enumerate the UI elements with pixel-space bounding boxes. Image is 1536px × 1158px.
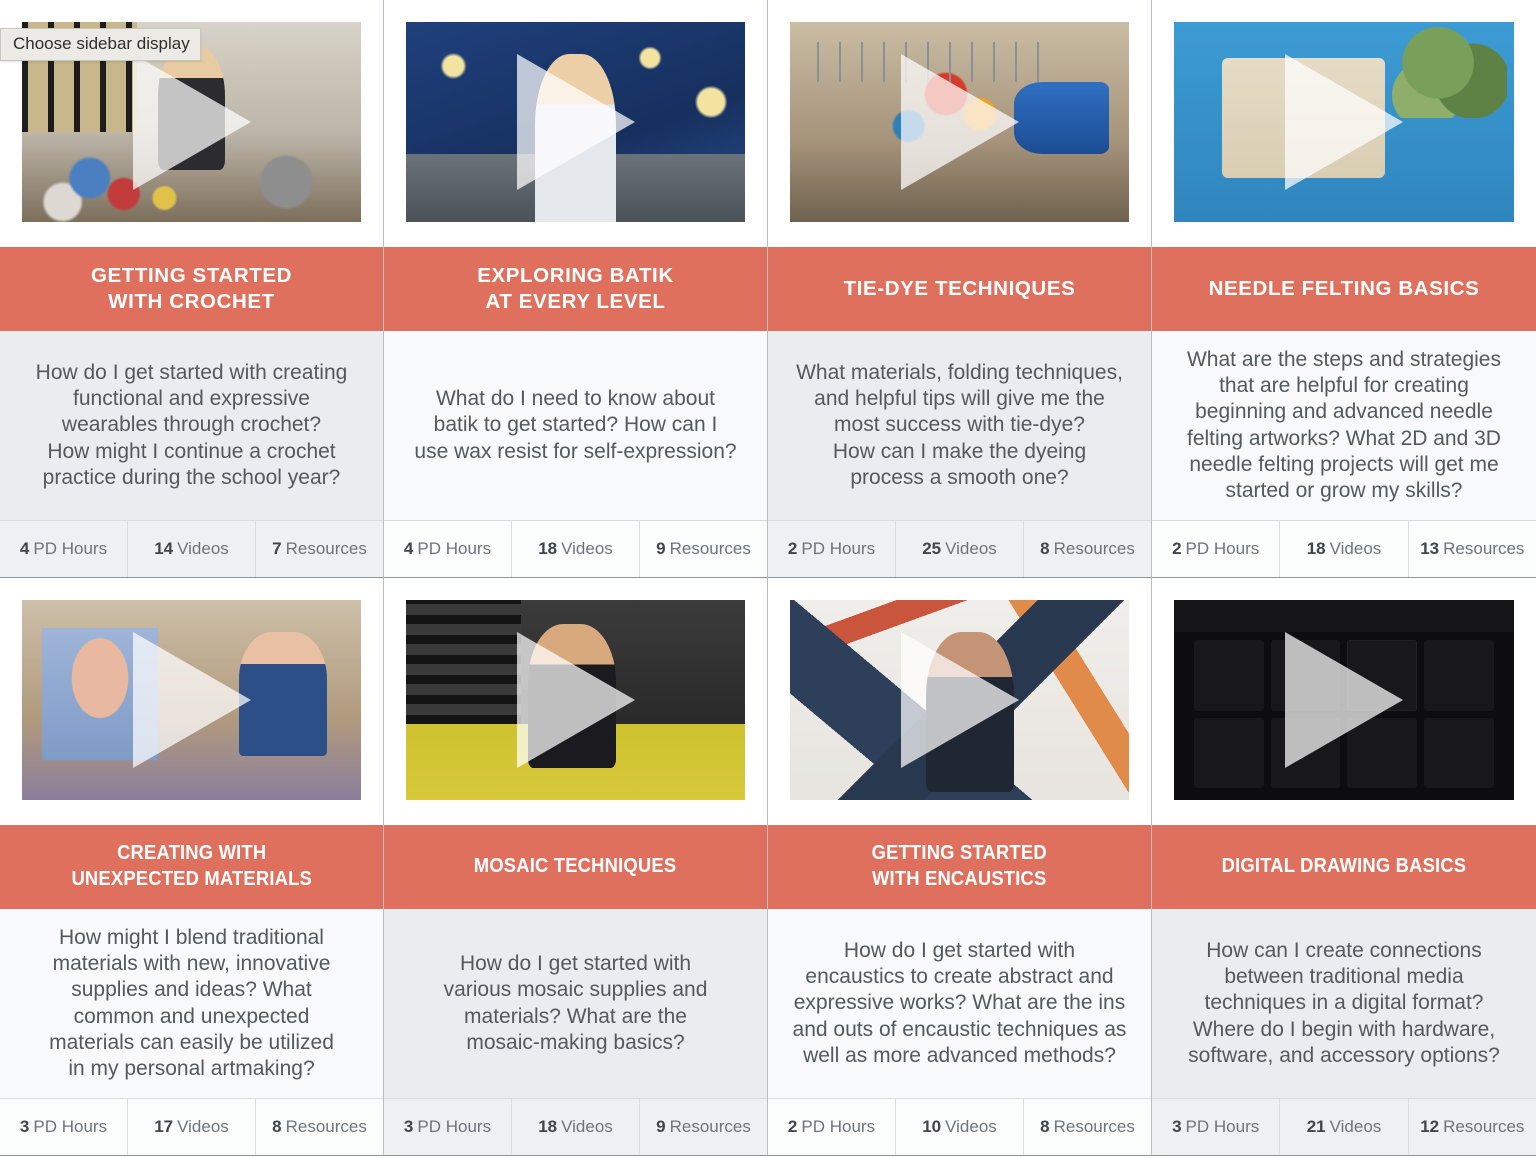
stat-value: 3: [20, 1117, 29, 1137]
stat-value: 10: [922, 1117, 941, 1137]
thumbnail-area[interactable]: [768, 578, 1151, 825]
stat-label: Resources: [1054, 1117, 1135, 1137]
stat-resources: 13Resources: [1409, 521, 1536, 577]
stat-pd-hours: 2PD Hours: [768, 1099, 896, 1155]
play-icon[interactable]: [517, 632, 635, 768]
needle-felting-video-thumbnail[interactable]: [1174, 22, 1514, 222]
card-header: NEEDLE FELTING BASICS: [1152, 247, 1536, 331]
stat-label: Videos: [561, 539, 613, 559]
procreate-brush-cell: [1424, 640, 1494, 711]
play-icon[interactable]: [133, 54, 251, 190]
play-icon[interactable]: [1285, 54, 1403, 190]
digital-drawing-video-thumbnail[interactable]: [1174, 600, 1514, 800]
stat-value: 4: [20, 539, 29, 559]
stat-pd-hours: 3PD Hours: [0, 1099, 128, 1155]
stat-label: Resources: [1054, 539, 1135, 559]
thumbnail-area[interactable]: [768, 0, 1151, 247]
card-title: MOSAIC TECHNIQUES: [474, 854, 676, 880]
thumbnail-area[interactable]: [0, 578, 383, 825]
course-card-encaustics[interactable]: GETTING STARTED WITH ENCAUSTICS How do I…: [768, 578, 1152, 1156]
procreate-toolbar: [1174, 600, 1514, 632]
stat-label: PD Hours: [1186, 539, 1260, 559]
card-header: MOSAIC TECHNIQUES: [384, 825, 767, 909]
stat-value: 8: [1040, 539, 1049, 559]
tie-dye-video-thumbnail[interactable]: [790, 22, 1129, 222]
card-footer-stats: 3PD Hours 18Videos 9Resources: [384, 1099, 767, 1155]
course-grid: GETTING STARTED WITH CROCHET How do I ge…: [0, 0, 1536, 1156]
play-icon[interactable]: [133, 632, 251, 768]
stat-label: PD Hours: [33, 1117, 107, 1137]
stat-value: 17: [154, 1117, 173, 1137]
stat-value: 18: [538, 1117, 557, 1137]
stat-value: 25: [922, 539, 941, 559]
stat-videos: 18Videos: [512, 1099, 640, 1155]
stat-value: 3: [1172, 1117, 1181, 1137]
stat-value: 12: [1420, 1117, 1439, 1137]
stat-label: Videos: [1330, 1117, 1382, 1137]
card-question: How do I get started with creating funct…: [36, 360, 348, 490]
stat-label: Videos: [945, 539, 997, 559]
stat-label: Resources: [670, 539, 751, 559]
stat-pd-hours: 4PD Hours: [0, 521, 128, 577]
play-icon[interactable]: [1285, 632, 1403, 768]
stat-videos: 10Videos: [896, 1099, 1024, 1155]
card-header: GETTING STARTED WITH CROCHET: [0, 247, 383, 331]
procreate-brush-cell: [1424, 718, 1494, 789]
stat-label: Videos: [1330, 539, 1382, 559]
card-question: How do I get started with encaustics to …: [793, 938, 1127, 1068]
stat-label: Videos: [945, 1117, 997, 1137]
card-footer-stats: 4PD Hours 18Videos 9Resources: [384, 521, 767, 577]
stat-label: Resources: [286, 1117, 367, 1137]
stat-pd-hours: 2PD Hours: [768, 521, 896, 577]
course-card-tie-dye[interactable]: TIE-DYE TECHNIQUES What materials, foldi…: [768, 0, 1152, 578]
card-header: GETTING STARTED WITH ENCAUSTICS: [768, 825, 1151, 909]
course-card-batik[interactable]: EXPLORING BATIK AT EVERY LEVEL What do I…: [384, 0, 768, 578]
stat-resources: 8Resources: [1024, 1099, 1151, 1155]
card-question: What materials, folding techniques, and …: [796, 360, 1123, 490]
thumbnail-area[interactable]: [1152, 0, 1536, 247]
stat-label: Videos: [561, 1117, 613, 1137]
card-body: What are the steps and strategies that a…: [1152, 331, 1536, 521]
stat-value: 2: [1172, 539, 1181, 559]
card-header: DIGITAL DRAWING BASICS: [1152, 825, 1536, 909]
card-title: CREATING WITH UNEXPECTED MATERIALS: [71, 841, 312, 892]
card-title: GETTING STARTED WITH ENCAUSTICS: [872, 841, 1047, 892]
stat-value: 13: [1420, 539, 1439, 559]
stat-resources: 8Resources: [1024, 521, 1151, 577]
card-question: What do I need to know about batik to ge…: [414, 386, 736, 464]
stat-videos: 18Videos: [512, 521, 640, 577]
play-icon[interactable]: [901, 632, 1019, 768]
stat-label: PD Hours: [801, 1117, 875, 1137]
card-body: What materials, folding techniques, and …: [768, 331, 1151, 521]
stat-resources: 12Resources: [1409, 1099, 1536, 1155]
stat-pd-hours: 4PD Hours: [384, 521, 512, 577]
course-card-unexpected-materials[interactable]: CREATING WITH UNEXPECTED MATERIALS How m…: [0, 578, 384, 1156]
card-header: EXPLORING BATIK AT EVERY LEVEL: [384, 247, 767, 331]
stat-label: PD Hours: [33, 539, 107, 559]
unexpected-materials-video-thumbnail[interactable]: [22, 600, 361, 800]
card-body: How do I get started with encaustics to …: [768, 909, 1151, 1099]
card-title: EXPLORING BATIK AT EVERY LEVEL: [477, 263, 674, 315]
card-body: How might I blend traditional materials …: [0, 909, 383, 1099]
stat-label: PD Hours: [1186, 1117, 1260, 1137]
stat-pd-hours: 3PD Hours: [1152, 1099, 1280, 1155]
course-card-needle-felting[interactable]: NEEDLE FELTING BASICS What are the steps…: [1152, 0, 1536, 578]
stat-videos: 14Videos: [128, 521, 256, 577]
card-title: GETTING STARTED WITH CROCHET: [91, 263, 292, 315]
stat-value: 8: [272, 1117, 281, 1137]
card-footer-stats: 2PD Hours 18Videos 13Resources: [1152, 521, 1536, 577]
card-body: How do I get started with various mosaic…: [384, 909, 767, 1099]
thumbnail-area[interactable]: [384, 0, 767, 247]
stat-value: 7: [272, 539, 281, 559]
stat-value: 21: [1307, 1117, 1326, 1137]
card-question: How can I create connections between tra…: [1188, 938, 1500, 1068]
card-header: TIE-DYE TECHNIQUES: [768, 247, 1151, 331]
stat-value: 18: [538, 539, 557, 559]
card-title: TIE-DYE TECHNIQUES: [844, 276, 1076, 302]
stat-value: 14: [154, 539, 173, 559]
thumbnail-area[interactable]: [1152, 578, 1536, 825]
play-icon[interactable]: [517, 54, 635, 190]
stat-value: 8: [1040, 1117, 1049, 1137]
course-card-grid-page: GETTING STARTED WITH CROCHET How do I ge…: [0, 0, 1536, 1158]
card-body: How do I get started with creating funct…: [0, 331, 383, 521]
card-title: DIGITAL DRAWING BASICS: [1222, 854, 1467, 880]
mosaic-video-thumbnail[interactable]: [406, 600, 745, 800]
stat-videos: 25Videos: [896, 521, 1024, 577]
stat-videos: 18Videos: [1280, 521, 1408, 577]
stat-label: Resources: [1443, 1117, 1524, 1137]
stat-videos: 21Videos: [1280, 1099, 1408, 1155]
stat-pd-hours: 3PD Hours: [384, 1099, 512, 1155]
stat-label: PD Hours: [417, 539, 491, 559]
card-footer-stats: 3PD Hours 21Videos 12Resources: [1152, 1099, 1536, 1155]
stat-label: PD Hours: [801, 539, 875, 559]
procreate-brush-cell: [1194, 718, 1264, 789]
card-body: How can I create connections between tra…: [1152, 909, 1536, 1099]
stat-resources: 7Resources: [256, 521, 383, 577]
stat-resources: 9Resources: [640, 1099, 767, 1155]
card-question: What are the steps and strategies that a…: [1187, 347, 1501, 503]
stat-label: PD Hours: [417, 1117, 491, 1137]
stat-resources: 8Resources: [256, 1099, 383, 1155]
procreate-brush-cell: [1194, 640, 1264, 711]
stat-videos: 17Videos: [128, 1099, 256, 1155]
card-header: CREATING WITH UNEXPECTED MATERIALS: [0, 825, 383, 909]
card-title: NEEDLE FELTING BASICS: [1209, 276, 1480, 302]
stat-label: Resources: [286, 539, 367, 559]
play-icon[interactable]: [901, 54, 1019, 190]
stat-value: 2: [788, 539, 797, 559]
stat-pd-hours: 2PD Hours: [1152, 521, 1280, 577]
stat-value: 4: [404, 539, 413, 559]
stat-value: 9: [656, 1117, 665, 1137]
stat-value: 2: [788, 1117, 797, 1137]
card-question: How might I blend traditional materials …: [49, 925, 334, 1081]
card-footer-stats: 3PD Hours 17Videos 8Resources: [0, 1099, 383, 1155]
sidebar-display-tooltip: Choose sidebar display: [0, 28, 201, 61]
stat-value: 18: [1307, 539, 1326, 559]
stat-value: 9: [656, 539, 665, 559]
stat-label: Videos: [177, 1117, 229, 1137]
course-card-crochet[interactable]: GETTING STARTED WITH CROCHET How do I ge…: [0, 0, 384, 578]
course-card-digital-drawing[interactable]: DIGITAL DRAWING BASICS How can I create …: [1152, 578, 1536, 1156]
card-footer-stats: 2PD Hours 10Videos 8Resources: [768, 1099, 1151, 1155]
stat-label: Videos: [177, 539, 229, 559]
card-footer-stats: 4PD Hours 14Videos 7Resources: [0, 521, 383, 577]
thumbnail-area[interactable]: [384, 578, 767, 825]
course-card-mosaic[interactable]: MOSAIC TECHNIQUES How do I get started w…: [384, 578, 768, 1156]
stat-label: Resources: [1443, 539, 1524, 559]
encaustics-video-thumbnail[interactable]: [790, 600, 1129, 800]
stat-value: 3: [404, 1117, 413, 1137]
card-footer-stats: 2PD Hours 25Videos 8Resources: [768, 521, 1151, 577]
stat-label: Resources: [670, 1117, 751, 1137]
stat-resources: 9Resources: [640, 521, 767, 577]
batik-video-thumbnail[interactable]: [406, 22, 745, 222]
card-question: How do I get started with various mosaic…: [444, 951, 708, 1055]
card-body: What do I need to know about batik to ge…: [384, 331, 767, 521]
